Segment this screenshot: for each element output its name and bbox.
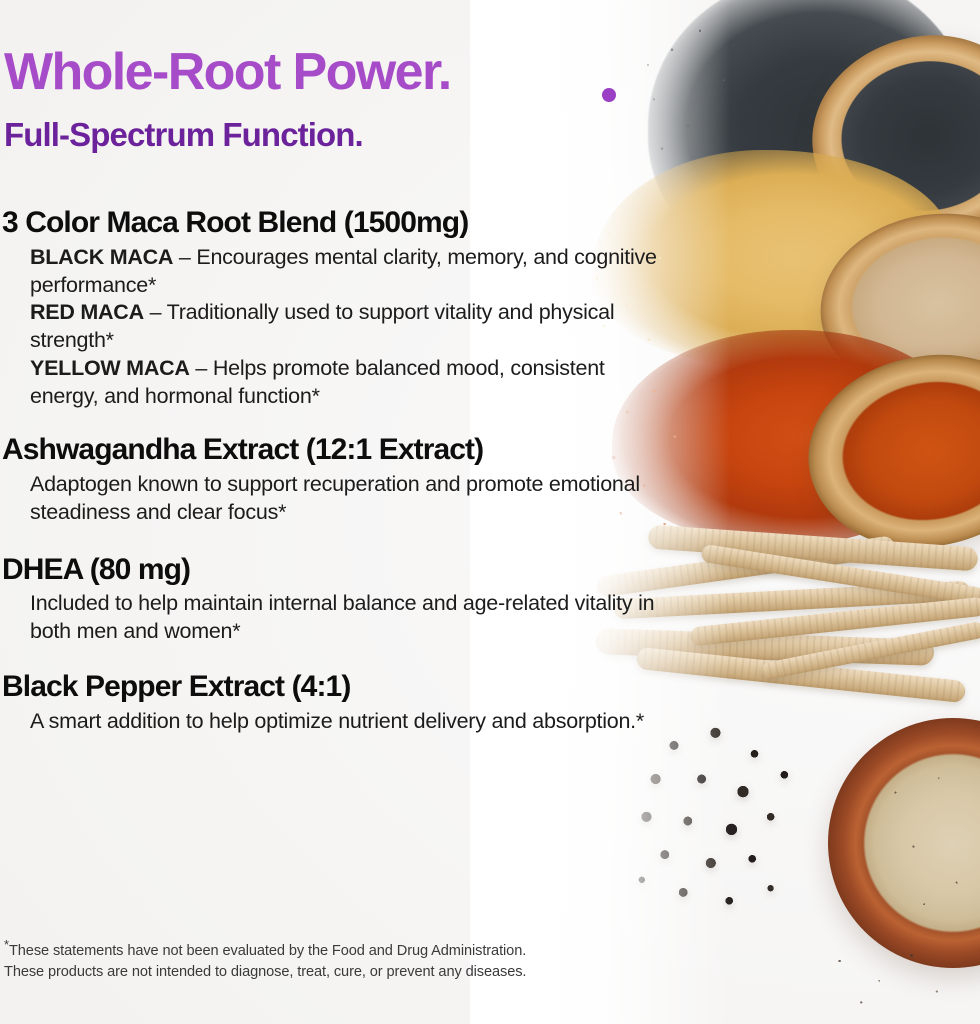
fda-disclaimer: *These statements have not been evaluate… — [4, 936, 664, 983]
section-title: DHEA (80 mg) — [0, 553, 660, 587]
ingredient-item: RED MACA – Traditionally used to support… — [30, 299, 660, 355]
ingredient-sections: 3 Color Maca Root Blend (1500mg) BLACK M… — [0, 206, 660, 736]
section-description: Included to help maintain internal balan… — [30, 590, 660, 646]
headline-line-1: Whole-Root Power. — [4, 46, 451, 99]
ingredient-item: BLACK MACA – Encourages mental clarity, … — [30, 244, 660, 300]
ingredient-lead: RED MACA — [30, 300, 144, 324]
section-gap — [0, 646, 660, 670]
section-body: Adaptogen known to support recuperation … — [0, 471, 660, 527]
ashwagandha-root-image — [648, 525, 979, 572]
disclaimer-line-1: *These statements have not been evaluate… — [4, 936, 664, 962]
section-dhea: DHEA (80 mg) Included to help maintain i… — [0, 553, 660, 646]
section-description: A smart addition to help optimize nutrie… — [30, 708, 660, 736]
section-body: Included to help maintain internal balan… — [0, 590, 660, 646]
section-gap — [0, 411, 660, 433]
section-title: Ashwagandha Extract (12:1 Extract) — [0, 433, 660, 467]
ground-pepper-scatter — [800, 934, 980, 1024]
section-body: A smart addition to help optimize nutrie… — [0, 708, 660, 736]
section-black-pepper: Black Pepper Extract (4:1) A smart addit… — [0, 670, 660, 736]
section-body: BLACK MACA – Encourages mental clarity, … — [0, 244, 660, 412]
disclaimer-text-1: These statements have not been evaluated… — [9, 943, 526, 959]
section-description: Adaptogen known to support recuperation … — [30, 471, 660, 527]
purple-dot-accent — [602, 88, 616, 102]
ashwagandha-root-image — [636, 647, 966, 703]
ashwagandha-root-image — [760, 621, 980, 681]
section-title: Black Pepper Extract (4:1) — [0, 670, 660, 704]
black-maca-powder-image — [648, 0, 978, 276]
red-maca-wooden-bowl-image — [793, 336, 980, 565]
infographic-page: Whole-Root Power. Full-Spectrum Function… — [0, 0, 980, 1024]
black-peppercorns-image — [628, 716, 858, 926]
yellow-maca-wooden-bowl-image — [811, 202, 980, 404]
ground-pepper-terracotta-bowl-image — [828, 718, 980, 968]
disclaimer-line-2: These products are not intended to diagn… — [4, 962, 664, 983]
ashwagandha-root-image — [700, 544, 980, 607]
section-maca-blend: 3 Color Maca Root Blend (1500mg) BLACK M… — [0, 206, 660, 411]
red-maca-powder-image — [612, 330, 962, 545]
ingredient-lead: BLACK MACA — [30, 245, 173, 269]
ingredient-item: YELLOW MACA – Helps promote balanced moo… — [30, 355, 660, 411]
section-ashwagandha: Ashwagandha Extract (12:1 Extract) Adapt… — [0, 433, 660, 526]
black-maca-powder-scatter — [636, 8, 836, 198]
content-column: Whole-Root Power. Full-Spectrum Function… — [0, 0, 660, 1024]
section-gap — [0, 527, 660, 553]
black-maca-wooden-bowl-image — [799, 21, 980, 251]
ingredient-lead: YELLOW MACA — [30, 356, 190, 380]
section-title: 3 Color Maca Root Blend (1500mg) — [0, 206, 660, 240]
ashwagandha-root-image — [614, 581, 971, 620]
headline-line-2: Full-Spectrum Function. — [4, 118, 363, 153]
ashwagandha-root-image — [690, 597, 980, 647]
